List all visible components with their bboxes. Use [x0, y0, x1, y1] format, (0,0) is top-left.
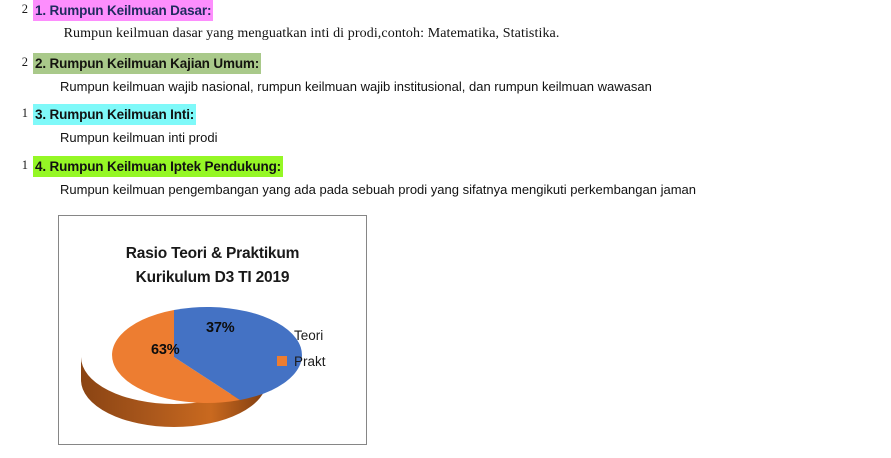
chart-title: Rasio Teori & Praktikum Kurikulum D3 TI …	[59, 242, 366, 290]
data-label-teori: 37%	[206, 320, 234, 336]
description-rumpun-keilmuan-iptek-pendukung: Rumpun keilmuan pengembangan yang ada pa…	[60, 177, 891, 202]
list-item: 2 1. Rumpun Keilmuan Dasar:	[0, 0, 891, 21]
margin-number: 1	[0, 156, 28, 175]
list-item: 2 2. Rumpun Keilmuan Kajian Umum:	[0, 53, 891, 74]
description-rumpun-keilmuan-dasar: Rumpun keilmuan dasar yang menguatkan in…	[60, 21, 891, 46]
data-label-prakt: 63%	[151, 342, 179, 358]
chart-title-line-1: Rasio Teori & Praktikum	[59, 242, 366, 266]
legend-item-prakt: Prakt	[277, 348, 363, 374]
legend-label-teori: Teori	[294, 328, 323, 343]
margin-number: 2	[0, 53, 28, 72]
margin-number: 2	[0, 0, 28, 19]
description-rumpun-keilmuan-inti: Rumpun keilmuan inti prodi	[60, 125, 891, 150]
heading-rumpun-keilmuan-dasar: 1. Rumpun Keilmuan Dasar:	[33, 0, 213, 21]
legend-swatch-teori	[277, 330, 287, 340]
outline-list: 2 1. Rumpun Keilmuan Dasar: Rumpun keilm…	[0, 0, 891, 202]
legend-item-teori: Teori	[277, 322, 363, 348]
list-item: 1 3. Rumpun Keilmuan Inti:	[0, 104, 891, 125]
chart-legend: Teori Prakt	[277, 322, 363, 374]
heading-rumpun-keilmuan-inti: 3. Rumpun Keilmuan Inti:	[33, 104, 196, 125]
list-item: 1 4. Rumpun Keilmuan Iptek Pendukung:	[0, 156, 891, 177]
chart-title-line-2: Kurikulum D3 TI 2019	[59, 266, 366, 290]
description-rumpun-keilmuan-kajian-umum: Rumpun keilmuan wajib nasional, rumpun k…	[60, 74, 891, 99]
margin-number: 1	[0, 104, 28, 123]
legend-label-prakt: Prakt	[294, 354, 326, 369]
legend-swatch-prakt	[277, 356, 287, 366]
heading-rumpun-keilmuan-iptek-pendukung: 4. Rumpun Keilmuan Iptek Pendukung:	[33, 156, 283, 177]
heading-rumpun-keilmuan-kajian-umum: 2. Rumpun Keilmuan Kajian Umum:	[33, 53, 261, 74]
